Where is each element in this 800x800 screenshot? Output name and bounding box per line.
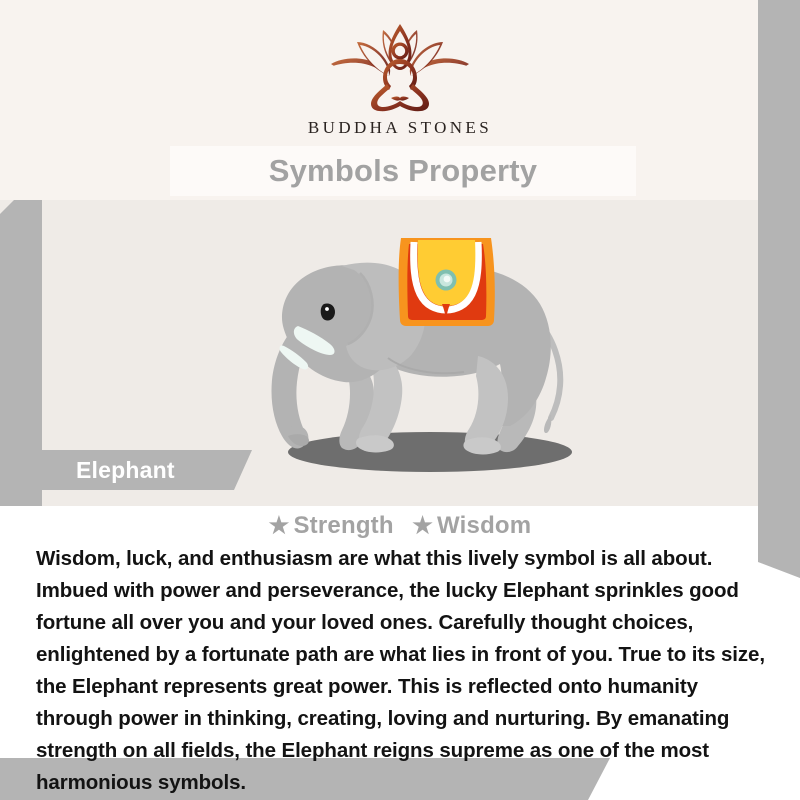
symbol-name-label: Elephant — [76, 457, 175, 484]
attribute-strength-label: Strength — [293, 512, 393, 539]
symbol-name-banner: Elephant — [42, 450, 252, 490]
symbol-attributes: ★Strength ★Wisdom — [0, 512, 800, 540]
elephant-shadow — [288, 432, 572, 472]
symbol-description: Wisdom, luck, and enthusiasm are what th… — [36, 543, 776, 799]
star-icon: ★ — [412, 512, 433, 538]
attribute-wisdom: ★Wisdom — [412, 512, 531, 540]
symbols-property-card: BUDDHA STONES Symbols Property — [0, 0, 800, 800]
attribute-wisdom-label: Wisdom — [437, 512, 531, 539]
saddle-blanket — [399, 238, 495, 326]
attribute-strength: ★Strength — [269, 512, 394, 540]
left-frame-strip — [0, 200, 42, 506]
star-icon: ★ — [269, 512, 290, 538]
lotus-meditation-icon — [325, 18, 475, 114]
walking-elephant-illustration — [238, 214, 618, 482]
brand-name: BUDDHA STONES — [0, 118, 800, 138]
page-title-band: Symbols Property — [170, 146, 636, 196]
brand-logo: BUDDHA STONES — [0, 18, 800, 138]
page-title: Symbols Property — [269, 153, 538, 189]
